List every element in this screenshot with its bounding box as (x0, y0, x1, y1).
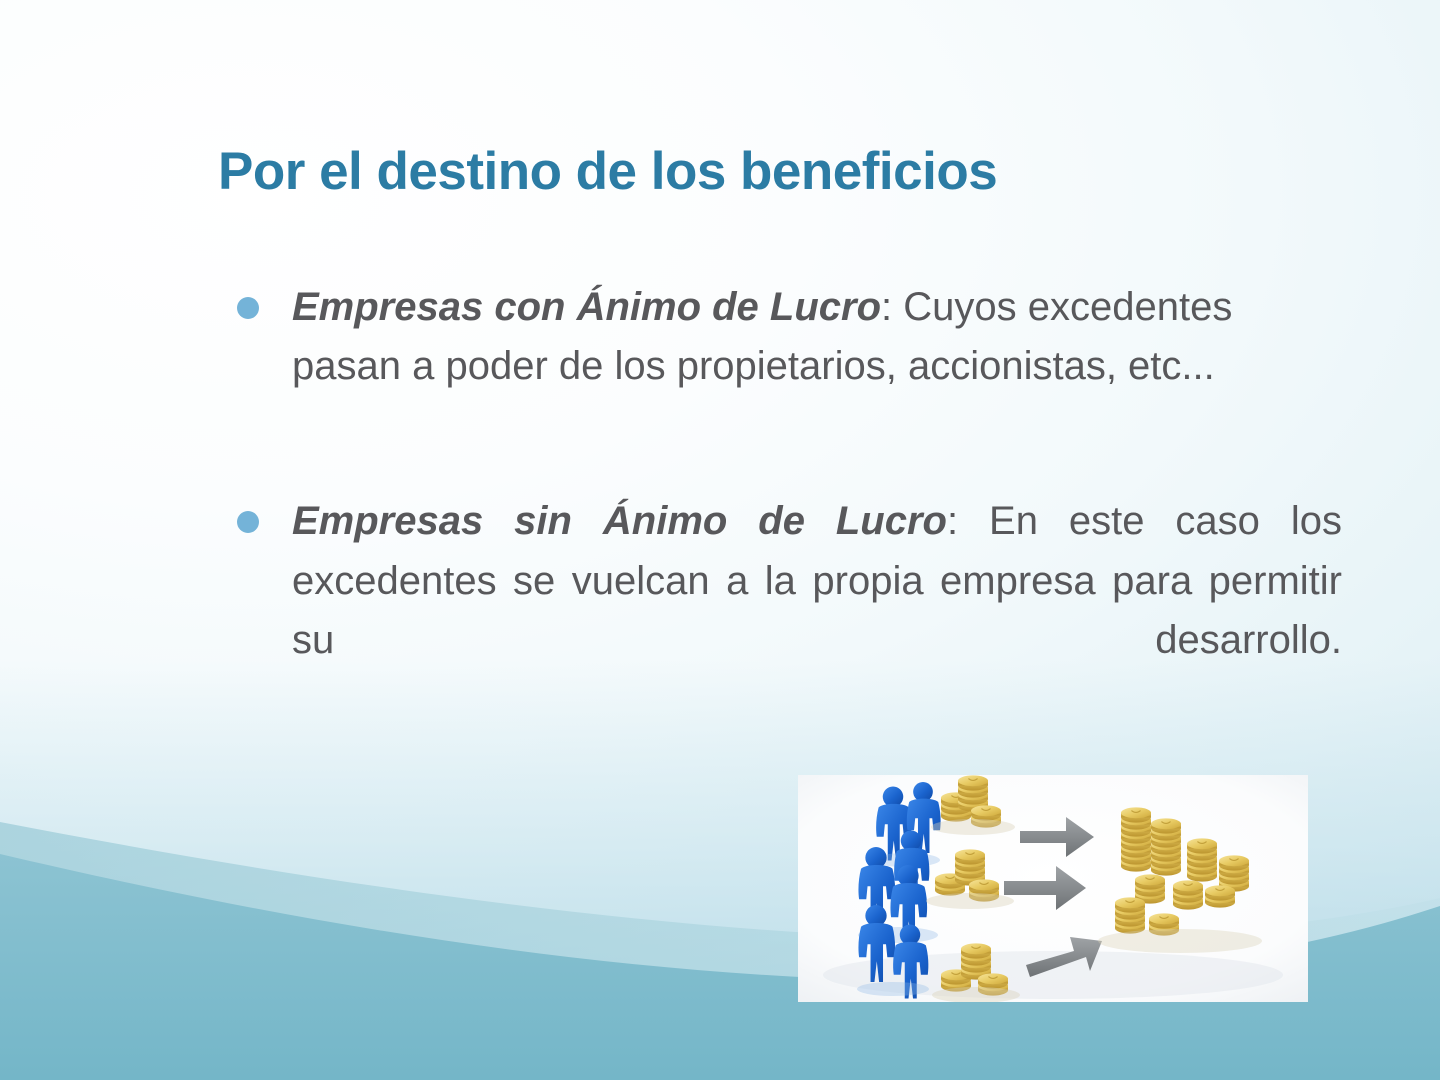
bullet-lead-text: Empresas sin Ánimo de Lucro (292, 499, 947, 543)
bullet-dot-icon (237, 511, 259, 533)
content-body: Empresas con Ánimo de Lucro: Cuyos exced… (232, 278, 1342, 729)
bullet-lead-text: Empresas con Ánimo de Lucro (292, 285, 881, 329)
page-title: Por el destino de los beneficios (218, 141, 997, 202)
list-item: Empresas con Ánimo de Lucro: Cuyos exced… (232, 278, 1342, 396)
list-item: Empresas sin Ánimo de Lucro: En este cas… (232, 492, 1342, 729)
bullet-dot-icon (237, 297, 259, 319)
slide-canvas: Por el destino de los beneficios Empresa… (0, 0, 1440, 1080)
bullet-paragraph: Empresas con Ánimo de Lucro: Cuyos exced… (292, 285, 1232, 388)
bullet-paragraph: Empresas sin Ánimo de Lucro: En este cas… (292, 499, 1342, 721)
coins-and-people-image (798, 775, 1308, 1002)
